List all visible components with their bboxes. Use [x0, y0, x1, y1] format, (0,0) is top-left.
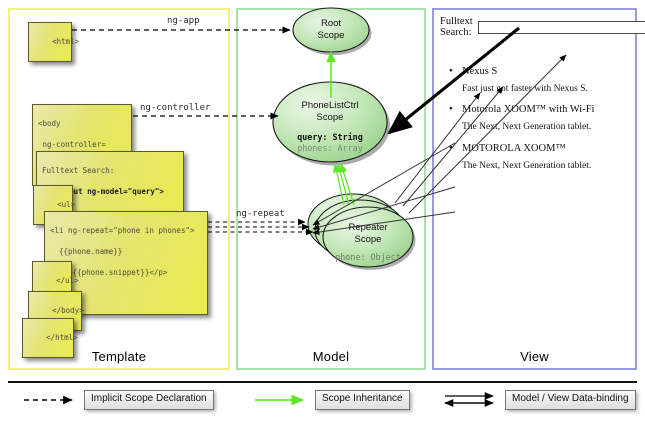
legend-label: Implicit Scope Declaration [84, 390, 214, 410]
scope-phonelistctrl-prop-phones: phones: Array [297, 143, 363, 153]
scope-phonelistctrl-title-1: PhoneListCtrl [301, 100, 358, 111]
view-item-snippet: The Next, Next Generation tablet. [440, 158, 632, 175]
label-ng-repeat: ng-repeat [236, 209, 285, 219]
scope-phonelistctrl-shape: PhoneListCtrl Scope query: String phones… [271, 78, 395, 170]
list-item[interactable]: Motorola XOOM™ with Wi-Fi The Next, Next… [440, 102, 632, 135]
code-line: <ul> [57, 200, 75, 209]
view-panel: Fulltext Search: Nexus S Fast just got f… [440, 16, 632, 179]
legend-scope-inheritance: Scope Inheritance [253, 390, 410, 410]
code-line: </body> [52, 306, 84, 315]
scope-root[interactable]: Root Scope [291, 5, 373, 62]
scope-repeater-title-2: Scope [355, 234, 382, 245]
view-item-snippet: Fast just got faster with Nexus S. [440, 81, 632, 98]
list-item[interactable]: MOTOROLA XOOM™ The Next, Next Generation… [440, 141, 632, 174]
code-box-html-open[interactable]: <html> [28, 22, 72, 62]
view-item-title: Nexus S [440, 64, 632, 81]
legend-label: Scope Inheritance [315, 390, 410, 410]
column-label-model: Model [238, 349, 424, 364]
list-item[interactable]: Nexus S Fast just got faster with Nexus … [440, 64, 632, 97]
scope-repeater-prop-phone: phone: Object [335, 252, 401, 262]
green-arrow-icon [253, 391, 315, 409]
scope-root-title-1: Root [321, 18, 341, 29]
column-label-view: View [434, 349, 635, 364]
scope-phonelistctrl-title-2: Scope [317, 112, 344, 123]
view-search-input[interactable] [478, 21, 645, 34]
legend-label: Model / View Data-binding [505, 390, 636, 410]
view-search-row: Fulltext Search: [440, 16, 632, 38]
legend-divider [8, 381, 637, 383]
scope-phonelistctrl[interactable]: PhoneListCtrl Scope query: String phones… [271, 78, 395, 175]
code-line: </html> [46, 333, 78, 342]
view-search-label: Fulltext Search: [440, 16, 473, 38]
scope-repeater-shape: Repeater Scope phone: Object [305, 186, 423, 276]
diagram-canvas: Template Model View [0, 0, 645, 425]
code-line: <body [38, 119, 61, 128]
scope-root-title-2: Scope [318, 30, 345, 41]
view-phone-list: Nexus S Fast just got faster with Nexus … [440, 64, 632, 174]
legend-model-view-data-binding: Model / View Data-binding [443, 390, 636, 410]
view-item-title: Motorola XOOM™ with Wi-Fi [440, 102, 632, 119]
code-line: <html> [52, 37, 79, 46]
view-item-snippet: The Next, Next Generation tablet. [440, 119, 632, 136]
view-item-title: MOTOROLA XOOM™ [440, 141, 632, 158]
scope-phonelistctrl-prop-query: query: String [297, 132, 363, 142]
scope-repeater-title-1: Repeater [348, 222, 387, 233]
label-ng-app: ng-app [167, 16, 200, 26]
label-ng-controller: ng-controller [140, 103, 210, 113]
code-line: Fulltext Search: [42, 166, 114, 175]
double-arrow-icon [443, 391, 505, 409]
code-line: ng-controller= [38, 140, 106, 149]
code-line: <li ng-repeat="phone in phones"> [50, 226, 195, 235]
code-box-html-close[interactable]: </html> [22, 318, 74, 358]
scope-repeater-stack[interactable]: Repeater Scope phone: Object [305, 186, 423, 281]
dashed-arrow-icon [22, 391, 84, 409]
legend-implicit-scope-declaration: Implicit Scope Declaration [22, 390, 214, 410]
scope-root-shape: Root Scope [291, 5, 373, 57]
code-line: {{phone.name}} [50, 247, 122, 256]
code-line: </ul> [56, 276, 79, 285]
